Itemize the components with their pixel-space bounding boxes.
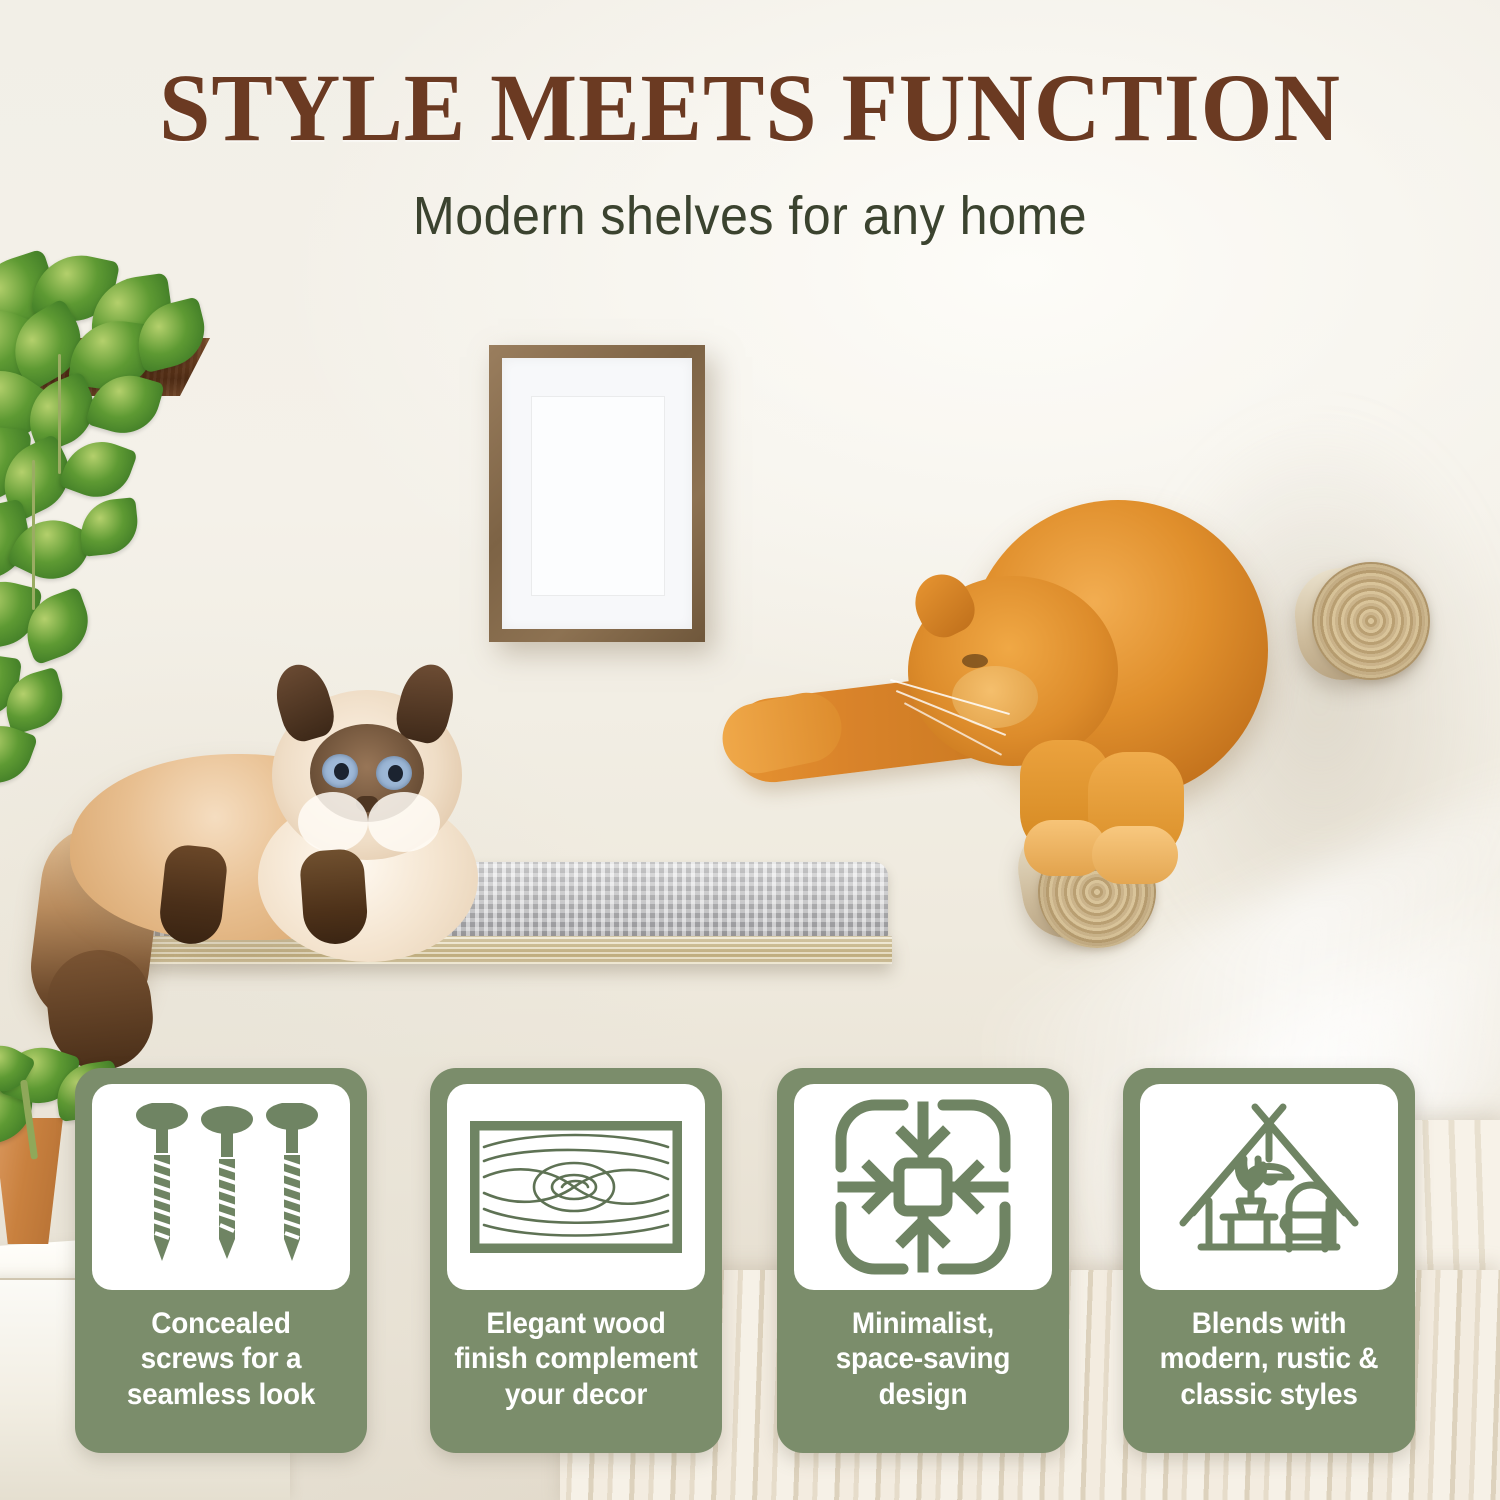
label-line: Concealed [95,1306,348,1341]
feature-card-label: Minimalist, space-saving design [797,1306,1050,1412]
feature-card-label: Elegant wood finish complement your deco… [450,1306,703,1412]
label-line: screws for a [95,1341,348,1376]
plant-vine [58,354,61,474]
page-subtitle: Modern shelves for any home [53,185,1448,247]
label-line: Blends with [1143,1306,1396,1341]
feature-card-concealed-screws[interactable]: Concealed screws for a seamless look [75,1068,367,1453]
plant-leaf [77,497,140,557]
feature-card-space-saving[interactable]: Minimalist, space-saving design [777,1068,1069,1453]
wood-grain-icon-panel [447,1084,705,1290]
label-line: classic styles [1143,1377,1396,1412]
frame-inner-border [531,396,666,597]
product-marketing-image: STYLE MEETS FUNCTION Modern shelves for … [0,0,1500,1500]
feature-card-label: Concealed screws for a seamless look [95,1306,348,1412]
label-line: seamless look [95,1377,348,1412]
house-interior-icon-panel [1140,1084,1398,1290]
label-line: finish complement [450,1341,703,1376]
compress-arrows-icon [831,1095,1015,1279]
label-line: Elegant wood [450,1306,703,1341]
feature-card-blends-styles[interactable]: Blends with modern, rustic & classic sty… [1123,1068,1415,1453]
ragdoll-cat [30,650,530,1070]
label-line: modern, rustic & [1143,1341,1396,1376]
label-line: your decor [450,1377,703,1412]
compress-arrows-icon-panel [794,1084,1052,1290]
label-line: design [797,1377,1050,1412]
page-title: STYLE MEETS FUNCTION [30,60,1470,156]
screws-icon-panel [92,1084,350,1290]
wood-grain-icon [470,1121,682,1253]
feature-card-row: Concealed screws for a seamless look [0,1068,1500,1460]
picture-frame [489,345,705,642]
plant-vine [32,460,35,610]
screws-icon [116,1103,326,1271]
label-line: Minimalist, [797,1306,1050,1341]
feature-card-label: Blends with modern, rustic & classic sty… [1143,1306,1396,1412]
frame-mat [502,358,692,629]
feature-card-wood-finish[interactable]: Elegant wood finish complement your deco… [430,1068,722,1453]
label-line: space-saving [797,1341,1050,1376]
orange-cat [720,490,1280,910]
house-interior-icon [1171,1097,1367,1277]
sisal-step-right-face [1312,562,1430,680]
